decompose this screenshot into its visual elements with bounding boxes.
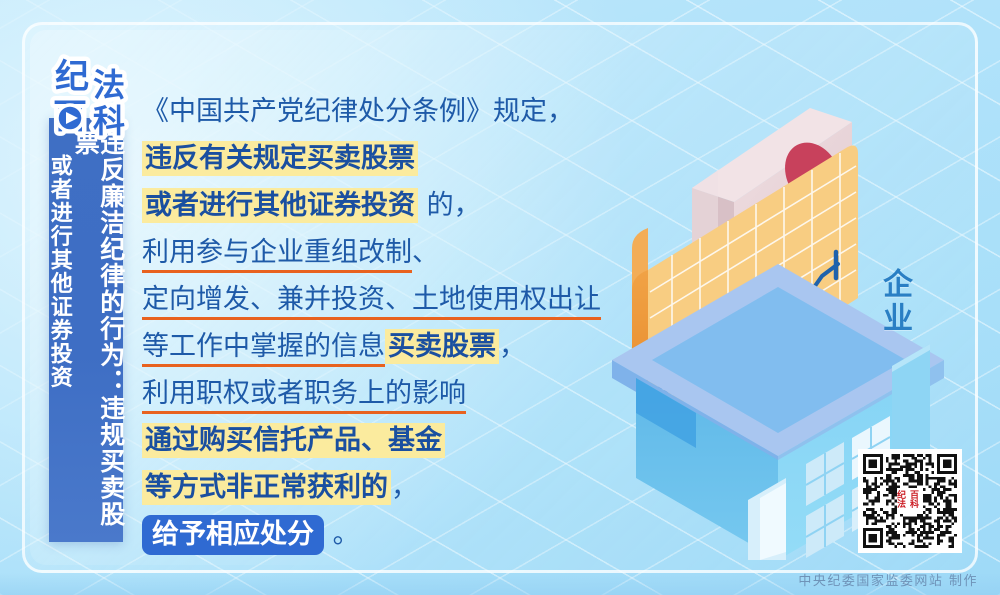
logo-char-ji: 纪 [55, 57, 89, 97]
article-line: 《中国共产党纪律处分条例》规定， [142, 88, 612, 135]
article-segment-plain: 《中国共产党纪律处分条例》规定， [142, 96, 574, 127]
building-label: 企业 [872, 268, 916, 336]
article-line: 通过购买信托产品、基金 [142, 417, 612, 464]
article-segment-pill: 给予相应处分 [142, 515, 324, 555]
article-segment-ul: 等工作中掌握的信息 [142, 331, 385, 367]
banner-sub-text: 或者进行其他证券投资 [48, 130, 70, 389]
article-segment-ul: 利用参与企业重组改制 [142, 237, 412, 273]
article-segment-hl: 买卖股票 [385, 329, 499, 364]
article-segment-hl: 等方式非正常获利的 [142, 470, 391, 505]
article-line: 等工作中掌握的信息买卖股票， [142, 323, 612, 370]
article-line: 等方式非正常获利的， [142, 464, 612, 511]
footer-credit: 中央纪委国家监委网站 制作 [798, 570, 978, 589]
banner-main-text: 违反廉洁纪律的行为：违规买卖股票 [73, 130, 124, 542]
qr-code[interactable]: 纪法百科 [858, 449, 962, 553]
article-segment-hl: 或者进行其他证券投资 [142, 188, 418, 223]
article-segment-ul: 定向增发、兼并投资、土地使用权出让 [142, 284, 601, 320]
article-segment-plain: ， [499, 331, 526, 362]
article-line: 给予相应处分 。 [142, 511, 612, 558]
article-segment-plain: 、 [412, 237, 439, 268]
qr-center-logo: 纪法百科 [897, 488, 923, 514]
article-segment-plain: 的， [418, 190, 481, 221]
article-segment-plain: ， [391, 472, 418, 503]
vertical-title-banner: 违反廉洁纪律的行为：违规买卖股票 或者进行其他证券投资 [49, 118, 123, 542]
logo-char-ke: 科 [93, 102, 125, 140]
logo-char-fa: 法 [93, 66, 125, 104]
article-segment-ul: 利用职权或者职务上的影响 [142, 378, 466, 414]
article-line: 违反有关规定买卖股票 [142, 135, 612, 182]
article-line: 定向增发、兼并投资、土地使用权出让 [142, 276, 612, 323]
article-segment-hl: 违反有关规定买卖股票 [142, 141, 418, 176]
qr-logo-line1: 纪法 [897, 492, 910, 510]
article-segment-hl: 通过购买信托产品、基金 [142, 423, 445, 458]
article-line: 利用参与企业重组改制、 [142, 229, 612, 276]
article-line: 利用职权或者职务上的影响 [142, 370, 612, 417]
poster-canvas: 纪 法 科 百 纪 法 科 百 违反廉洁纪律的行为：违规买卖股票 或者进行其他证… [0, 0, 1000, 595]
article-segment-plain: 。 [324, 519, 360, 550]
qr-logo-line2: 百科 [910, 492, 923, 510]
article-body: 《中国共产党纪律处分条例》规定，违反有关规定买卖股票或者进行其他证券投资 的，利… [142, 88, 612, 558]
article-line: 或者进行其他证券投资 的， [142, 182, 612, 229]
brand-logo: 纪 法 科 百 纪 法 科 百 [47, 48, 143, 140]
